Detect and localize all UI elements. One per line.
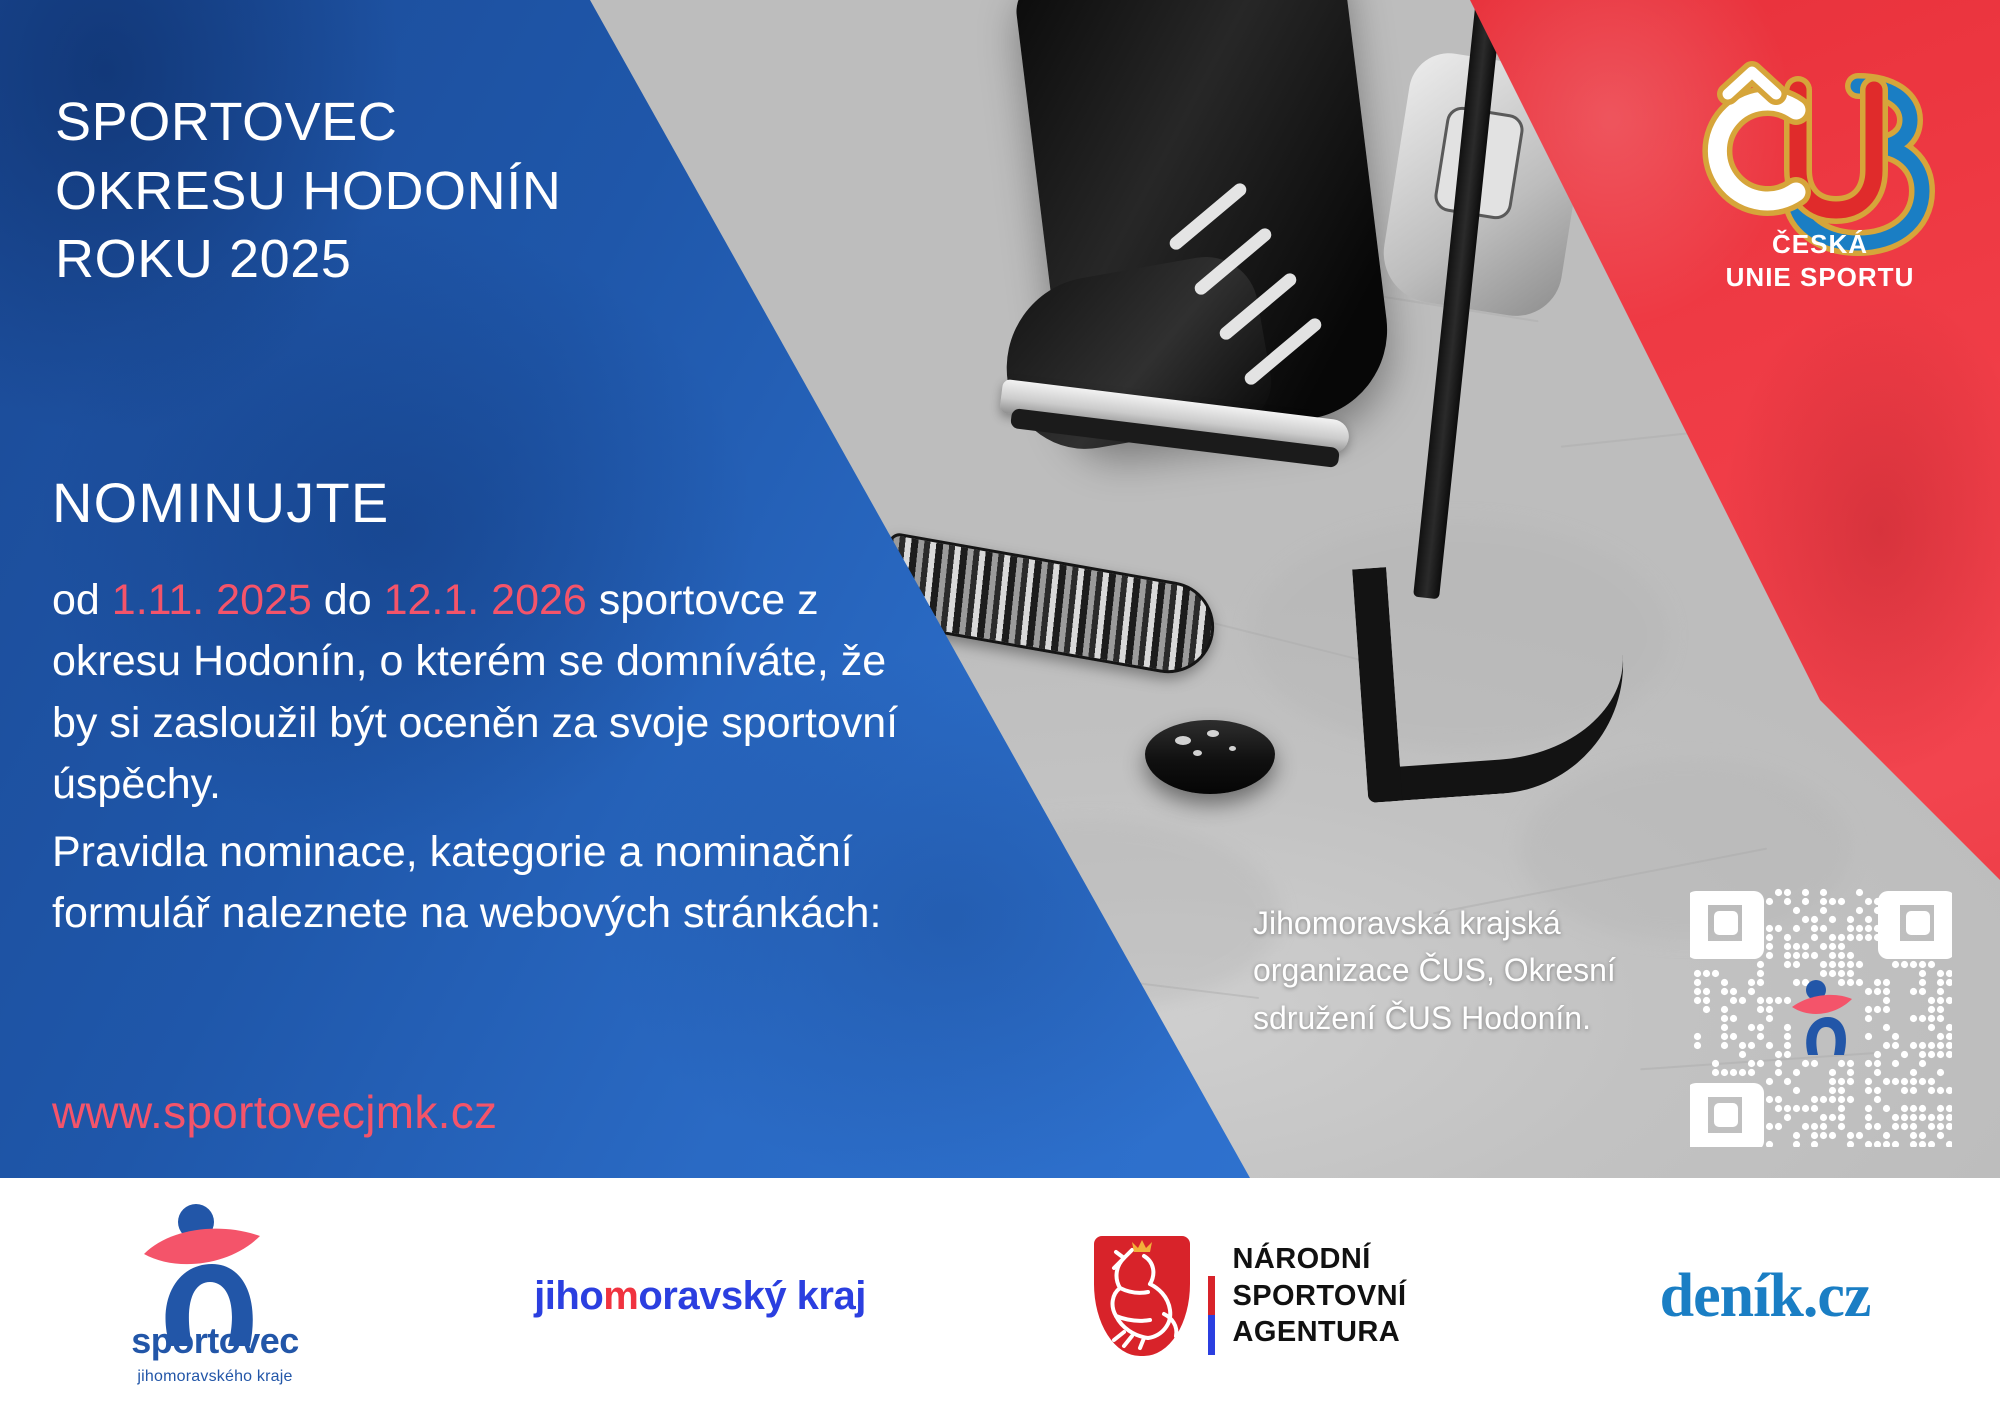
qr-center-logo: [1786, 977, 1862, 1057]
footer-logo-denik: deník.cz: [1530, 1178, 2000, 1414]
jmk-part1: jiho: [534, 1274, 603, 1318]
qr-code[interactable]: [1690, 885, 1952, 1147]
date-to: 12.1. 2026: [384, 576, 587, 624]
body-prefix-od: od: [52, 576, 112, 624]
call-to-action-heading: NOMINUJTE: [52, 470, 389, 535]
footer-logo-sportovec: sportovec jihomoravského kraje: [0, 1178, 430, 1414]
headline-line-2: OKRESU HODONÍN: [55, 157, 815, 226]
czech-tricolor-bar-icon: [1208, 1237, 1215, 1355]
footer-logo-jihomoravsky-kraj: jihomoravský kraj: [430, 1178, 970, 1414]
body-text: od 1.11. 2025 do 12.1. 2026 sportovce z …: [52, 570, 912, 945]
nsa-line-2: SPORTOVNÍ: [1233, 1278, 1407, 1315]
czech-lion-shield-icon: [1094, 1236, 1190, 1356]
cus-wordmark: ČESKÁ UNIE SPORTU: [1700, 228, 1940, 293]
cus-wordmark-line-1: ČESKÁ: [1700, 228, 1940, 261]
hockey-puck: [1145, 720, 1275, 794]
jmk-part2: m: [603, 1274, 638, 1318]
headline-line-3: ROKU 2025: [55, 225, 815, 294]
sportovec-logo-word: sportovec: [100, 1320, 330, 1362]
body-mid-do: do: [312, 576, 384, 624]
headline-line-1: SPORTOVEC: [55, 88, 815, 157]
website-url-link[interactable]: www.sportovecjmk.cz: [52, 1085, 497, 1139]
footer-logo-nsa: NÁRODNÍ SPORTOVNÍ AGENTURA: [970, 1178, 1530, 1414]
hockey-stick-blade-curve: [1352, 551, 1632, 803]
page-title: SPORTOVEC OKRESU HODONÍN ROKU 2025: [55, 88, 815, 294]
sportovec-logo-sub: jihomoravského kraje: [100, 1368, 330, 1386]
nsa-line-1: NÁRODNÍ: [1233, 1241, 1407, 1278]
denik-wordmark: deník.cz: [1660, 1261, 1871, 1332]
footer-logo-bar: sportovec jihomoravského kraje jihomorav…: [0, 1178, 2000, 1414]
organizer-caption: Jihomoravská krajská organizace ČUS, Okr…: [1253, 900, 1683, 1042]
date-from: 1.11. 2025: [112, 576, 312, 624]
jmk-part3: oravský kraj: [638, 1274, 866, 1318]
nsa-line-3: AGENTURA: [1233, 1314, 1407, 1351]
poster-root: SPORTOVEC OKRESU HODONÍN ROKU 2025 NOMIN…: [0, 0, 2000, 1414]
cus-wordmark-line-2: UNIE SPORTU: [1700, 261, 1940, 294]
body-rules: Pravidla nominace, kategorie a nominační…: [52, 822, 912, 945]
